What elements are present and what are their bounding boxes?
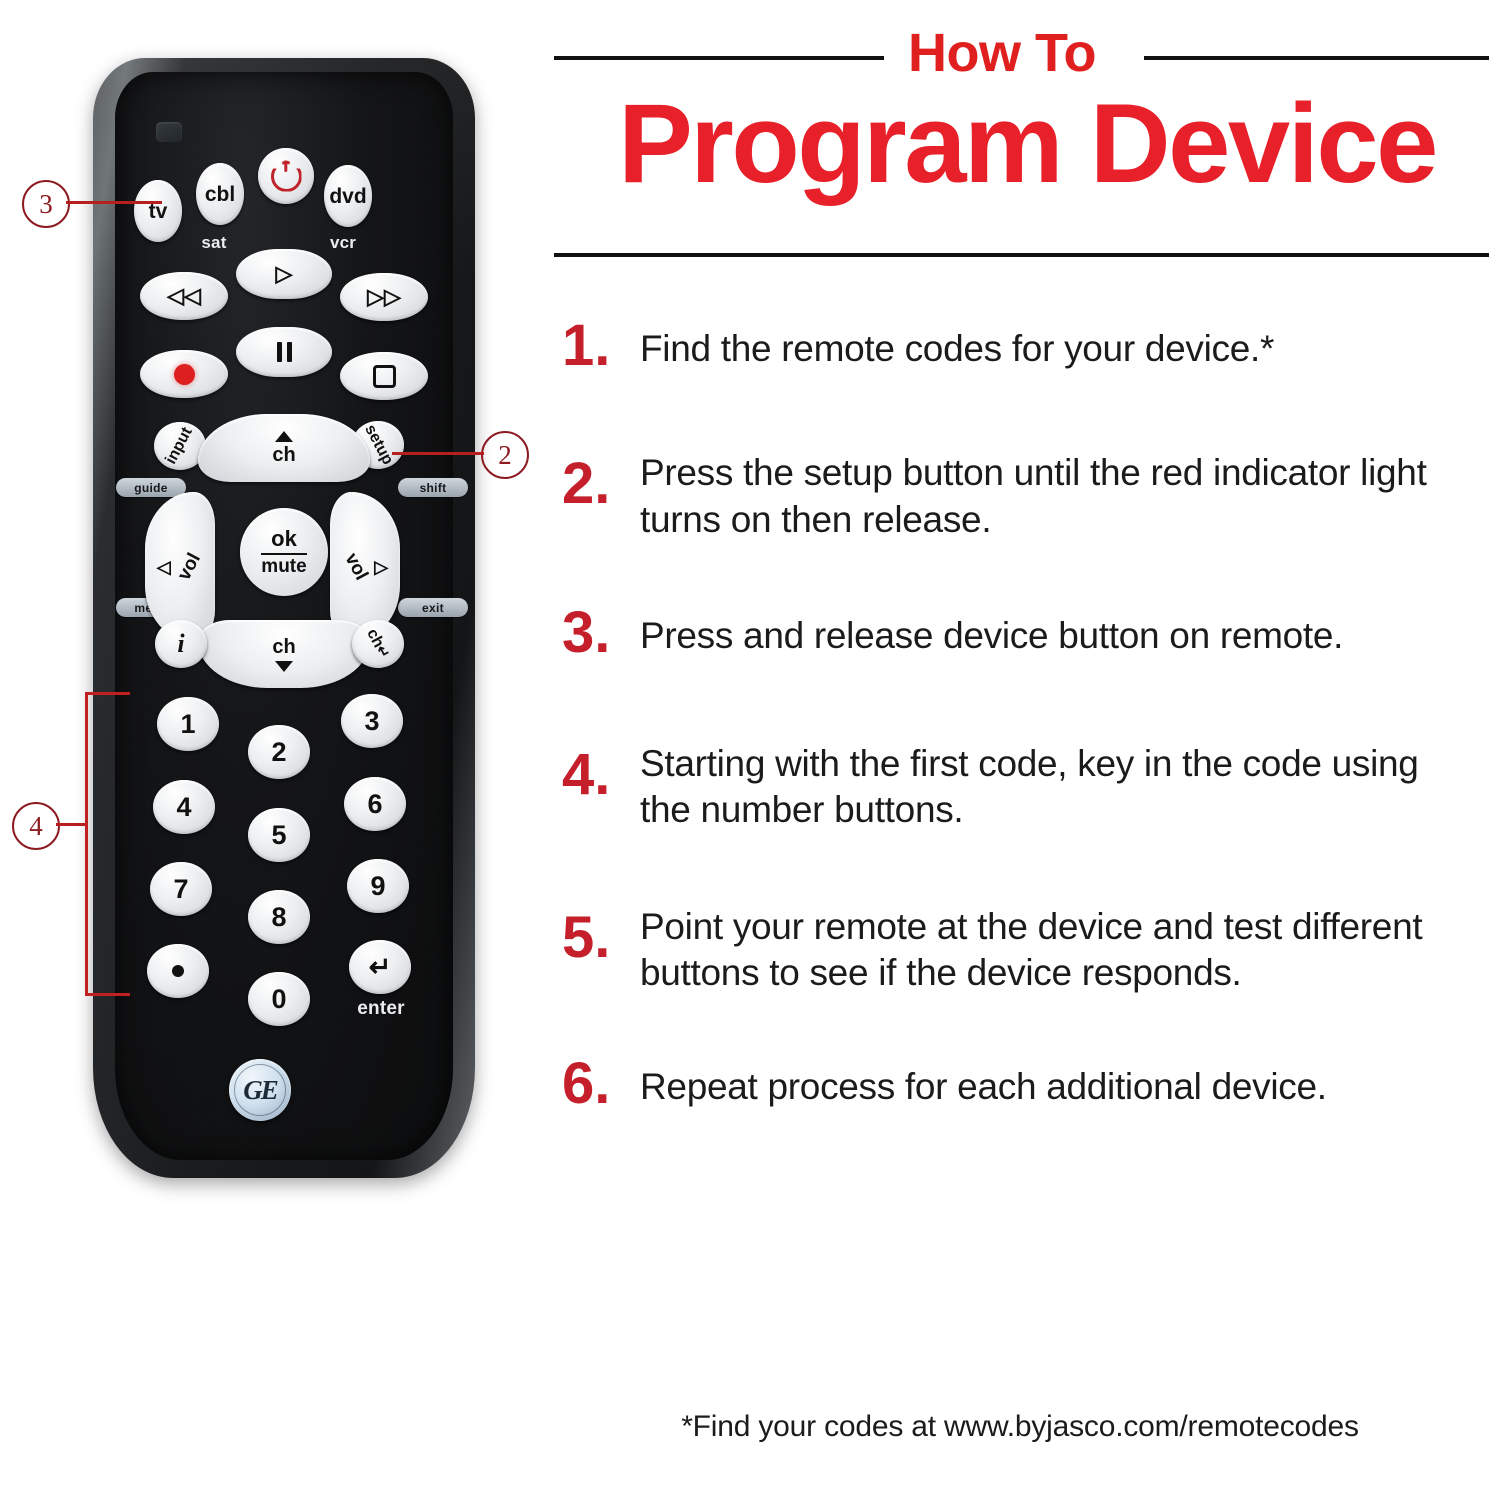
remote-key-record[interactable] — [140, 350, 228, 398]
remote-key-rewind[interactable]: ◁◁ — [140, 272, 228, 320]
instructions-pane: How To Program Device 1. Find the remote… — [540, 0, 1500, 1500]
remote-key-enter[interactable]: ↵ — [349, 940, 411, 994]
step-number-5: 5. — [550, 898, 640, 964]
key-caption-sat: sat — [174, 233, 254, 253]
callout-leader-2 — [392, 452, 484, 455]
header-rule-left — [554, 56, 884, 60]
dot-icon — [172, 965, 184, 977]
key-label-3: 3 — [364, 708, 379, 735]
key-label-vol-left: vol — [173, 550, 205, 585]
remote-key-pause[interactable] — [236, 327, 332, 377]
remote-key-cbl[interactable]: cbl — [196, 163, 244, 225]
key-label-4: 4 — [176, 794, 191, 821]
header-rule-right — [1144, 56, 1489, 60]
play-icon: ▷ — [276, 263, 293, 285]
step-text-4: Starting with the first code, key in the… — [640, 735, 1460, 834]
remote-key-channel-up[interactable]: ch — [198, 414, 370, 482]
rewind-icon: ◁◁ — [167, 285, 201, 307]
power-icon — [271, 161, 302, 192]
record-icon — [174, 364, 195, 385]
step-number-6: 6. — [550, 1058, 640, 1110]
fast-forward-icon: ▷▷ — [367, 286, 401, 308]
step-item-5: 5. Point your remote at the device and t… — [550, 898, 1500, 997]
remote-key-dvd[interactable]: dvd — [324, 165, 372, 227]
triangle-right-icon: ▷ — [374, 557, 388, 578]
callout-label-4: 4 — [29, 811, 43, 842]
step-number-1: 1. — [550, 320, 640, 372]
step-text-3: Press and release device button on remot… — [640, 607, 1480, 659]
key-label-1: 1 — [180, 711, 195, 738]
chevron-up-icon — [275, 431, 293, 442]
callout-leader-3 — [66, 201, 162, 204]
callout-label-3: 3 — [39, 189, 53, 220]
header-rule-bottom — [554, 253, 1489, 257]
remote-key-4[interactable]: 4 — [153, 780, 215, 834]
remote-key-stop[interactable] — [340, 352, 428, 400]
remote-label-guide: guide — [116, 478, 186, 497]
footnote-text: *Find your codes at www.byjasco.com/remo… — [540, 1410, 1500, 1444]
key-label-2: 2 — [271, 739, 286, 766]
remote-illustration: tv cbl sat dvd vcr ◁◁ ▷ ▷▷ — [0, 0, 540, 1500]
callout-marker-4: 4 — [12, 802, 60, 850]
step-item-2: 2. Press the setup button until the red … — [550, 444, 1500, 543]
pause-icon — [277, 342, 292, 362]
step-text-6: Repeat process for each additional devic… — [640, 1058, 1480, 1110]
callout-label-2: 2 — [498, 440, 512, 471]
step-item-3: 3. Press and release device button on re… — [550, 607, 1500, 659]
ok-divider — [261, 553, 307, 555]
remote-key-2[interactable]: 2 — [248, 725, 310, 779]
step-item-1: 1. Find the remote codes for your device… — [550, 320, 1500, 372]
remote-key-6[interactable]: 6 — [344, 777, 406, 831]
callout-marker-2: 2 — [481, 431, 529, 479]
remote-key-power[interactable] — [258, 148, 314, 204]
step-item-4: 4. Starting with the first code, key in … — [550, 735, 1500, 834]
remote-key-channel-recall[interactable]: ch↵ — [352, 620, 404, 668]
key-label-dvd: dvd — [329, 186, 366, 207]
step-item-6: 6. Repeat process for each additional de… — [550, 1058, 1500, 1110]
key-label-input: input — [164, 425, 196, 467]
key-label-ch-down: ch — [272, 637, 295, 657]
remote-key-5[interactable]: 5 — [248, 808, 310, 862]
page-title: Program Device — [562, 88, 1492, 200]
remote-key-1[interactable]: 1 — [157, 697, 219, 751]
remote-key-9[interactable]: 9 — [347, 859, 409, 913]
recall-icon: ch↵ — [364, 626, 393, 661]
step-text-1: Find the remote codes for your device.* — [640, 320, 1470, 372]
ir-emitter-window — [156, 122, 182, 142]
remote-key-dot[interactable] — [147, 944, 209, 998]
step-number-2: 2. — [550, 444, 640, 510]
ge-logo: GE — [229, 1059, 291, 1121]
key-label-info: i — [177, 631, 184, 657]
key-label-7: 7 — [173, 876, 188, 903]
key-label-ch-up: ch — [272, 445, 295, 465]
callout-marker-3: 3 — [22, 180, 70, 228]
key-label-mute: mute — [261, 557, 306, 577]
remote-key-8[interactable]: 8 — [248, 890, 310, 944]
remote-key-3[interactable]: 3 — [341, 694, 403, 748]
key-caption-enter: enter — [335, 998, 427, 1020]
chevron-down-icon — [275, 661, 293, 672]
remote-key-ok-mute[interactable]: ok mute — [240, 508, 328, 596]
step-text-5: Point your remote at the device and test… — [640, 898, 1500, 997]
remote-key-0[interactable]: 0 — [248, 972, 310, 1026]
callout-bracket-4 — [85, 692, 130, 996]
remote-key-fast-forward[interactable]: ▷▷ — [340, 273, 428, 321]
remote-label-exit: exit — [398, 598, 468, 617]
steps-list: 1. Find the remote codes for your device… — [550, 320, 1500, 1150]
step-text-2: Press the setup button until the red ind… — [640, 444, 1500, 543]
triangle-left-icon: ◁ — [157, 557, 171, 578]
key-label-0: 0 — [271, 986, 286, 1013]
key-label-cbl: cbl — [205, 184, 235, 205]
key-label-9: 9 — [370, 873, 385, 900]
key-label-ok: ok — [271, 527, 297, 550]
remote-key-7[interactable]: 7 — [150, 862, 212, 916]
ge-logo-ring — [234, 1064, 286, 1116]
key-label-6: 6 — [367, 791, 382, 818]
infographic-page: tv cbl sat dvd vcr ◁◁ ▷ ▷▷ — [0, 0, 1500, 1500]
key-label-8: 8 — [271, 904, 286, 931]
stop-icon — [373, 365, 396, 388]
remote-key-play[interactable]: ▷ — [236, 249, 332, 299]
step-number-4: 4. — [550, 735, 640, 801]
key-label-5: 5 — [271, 822, 286, 849]
enter-arrow-icon: ↵ — [369, 954, 392, 981]
remote-label-shift: shift — [398, 478, 468, 497]
step-number-3: 3. — [550, 607, 640, 659]
key-caption-vcr: vcr — [303, 233, 383, 253]
key-label-vol-right: vol — [339, 550, 371, 585]
callout-leader-4 — [56, 823, 88, 826]
header-kicker: How To — [908, 22, 1096, 84]
remote-key-info[interactable]: i — [155, 620, 207, 668]
